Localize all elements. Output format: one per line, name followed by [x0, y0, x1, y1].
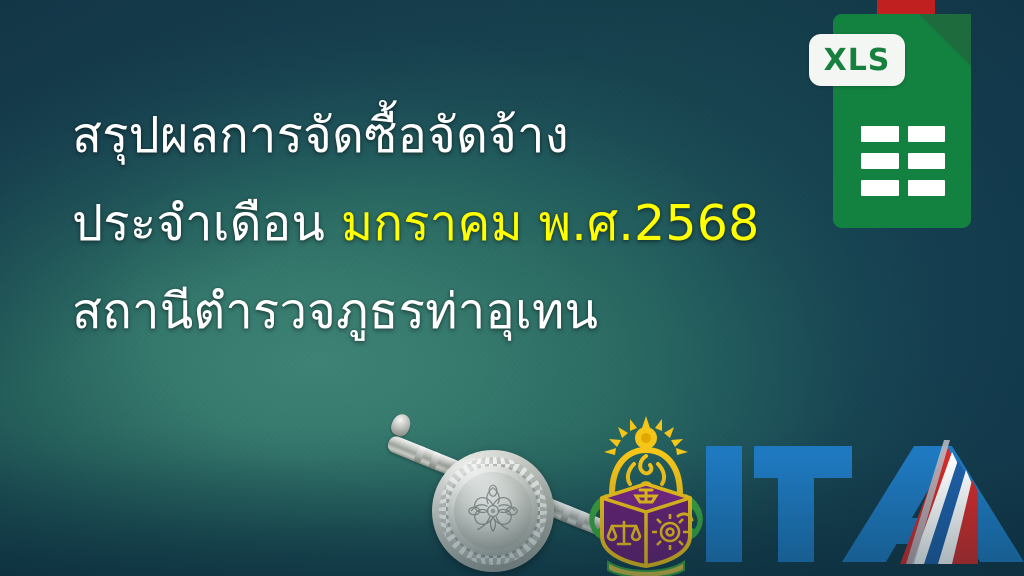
- crest-swirl-icon: [628, 456, 664, 484]
- xls-folded-corner-icon: [919, 14, 971, 66]
- royal-thai-police-crest: [578, 412, 714, 576]
- title-line-1: สรุปผลการจัดซื้อจัดจ้าง: [72, 92, 832, 180]
- title-line-2-prefix: ประจำเดือน: [72, 195, 341, 252]
- title-line-2: ประจำเดือน มกราคม พ.ศ.2568: [72, 180, 832, 268]
- title-line-3: สถานีตำรวจภูธรท่าอุเทน: [72, 268, 832, 356]
- page-title: สรุปผลการจัดซื้อจัดจ้าง ประจำเดือน มกราค…: [72, 92, 832, 356]
- xls-cell: [861, 153, 899, 169]
- slide-canvas: สรุปผลการจัดซื้อจัดจ้าง ประจำเดือน มกราค…: [0, 0, 1024, 576]
- crest-shield-icon: [602, 483, 692, 566]
- xls-table-rows-icon: [861, 126, 945, 196]
- xls-cell: [908, 126, 946, 142]
- xls-cell: [861, 180, 899, 196]
- xls-cell: [908, 180, 946, 196]
- xls-cell: [861, 126, 899, 142]
- title-month-year: มกราคม พ.ศ.2568: [341, 195, 760, 252]
- royal-thai-police-baton-medallion: [386, 404, 606, 576]
- xls-format-badge: XLS: [809, 34, 905, 86]
- medallion-floral-engraving-icon: [454, 472, 532, 550]
- baton-tip-icon: [389, 411, 414, 438]
- xls-accent-bar: [877, 0, 935, 15]
- xls-cell: [908, 153, 946, 169]
- medallion-disc-icon: [432, 450, 554, 572]
- xls-badge-label: XLS: [824, 43, 891, 78]
- xls-file-icon[interactable]: XLS: [833, 0, 975, 232]
- ita-logo: [700, 432, 1024, 576]
